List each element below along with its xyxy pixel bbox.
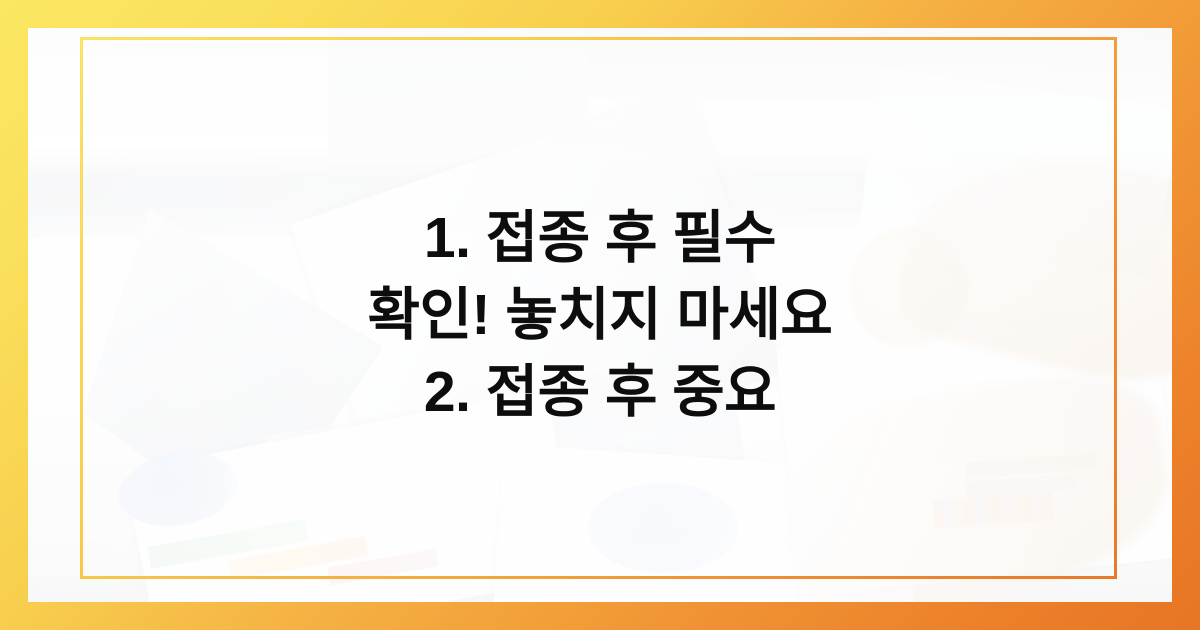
banner-canvas: 1. 접종 후 필수 확인! 놓치지 마세요 2. 접종 후 중요 [0,0,1200,630]
headline-line-2: 확인! 놓치지 마세요 [368,277,833,354]
headline-line-1: 1. 접종 후 필수 [424,200,776,277]
headline-line-3: 2. 접종 후 중요 [424,354,776,431]
headline-block: 1. 접종 후 필수 확인! 놓치지 마세요 2. 접종 후 중요 [0,0,1200,630]
